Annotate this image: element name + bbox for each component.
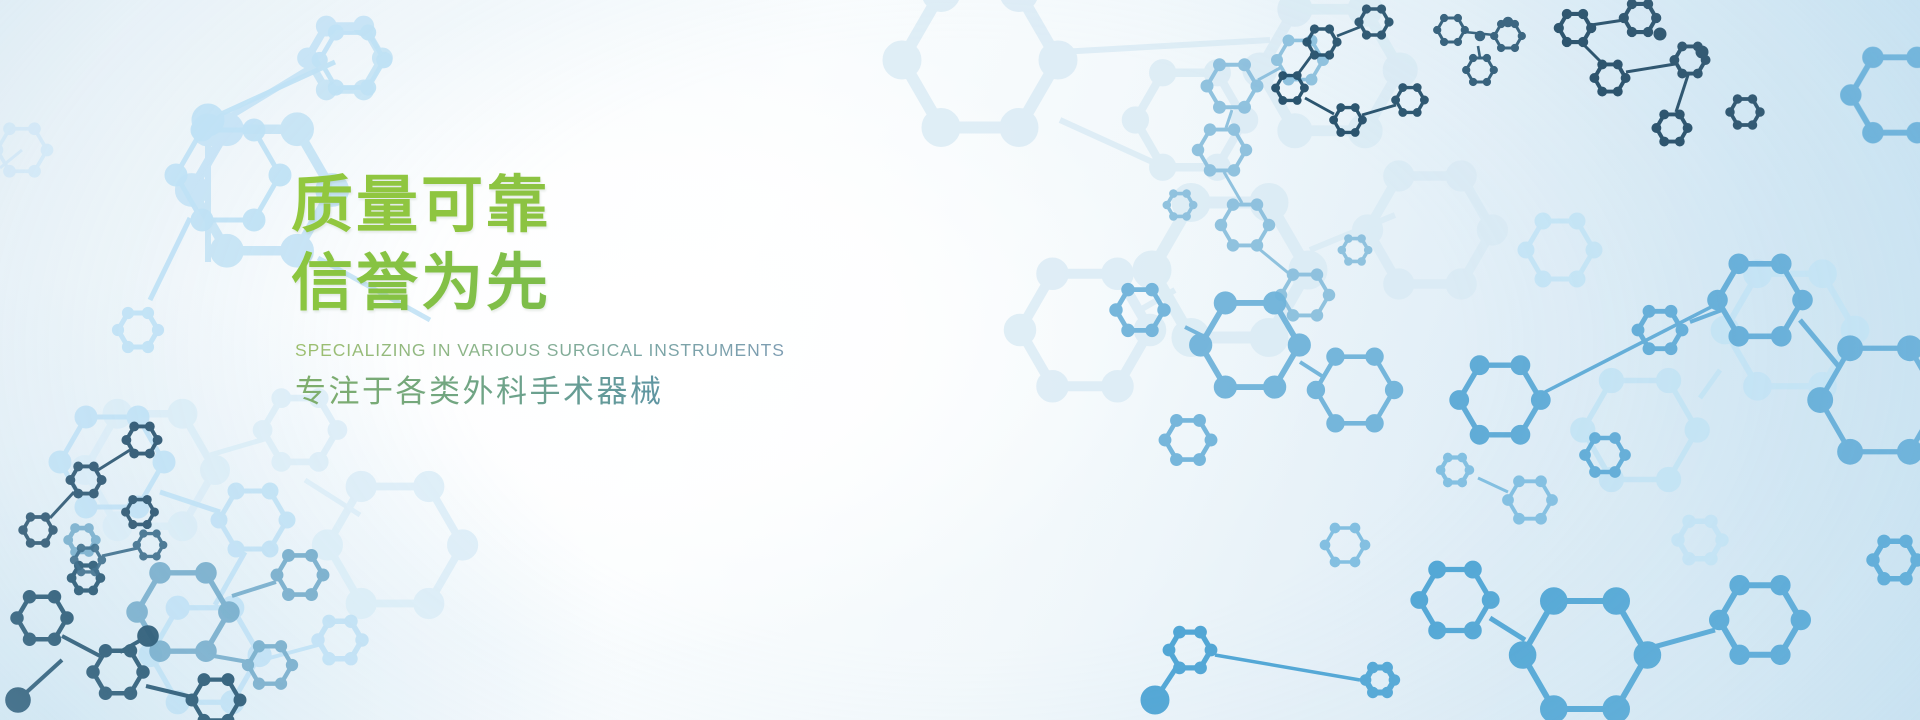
subtitle-english: SPECIALIZING IN VARIOUS SURGICAL INSTRUM…	[295, 340, 1111, 361]
hero-banner: 质量可靠 信誉为先 SPECIALIZING IN VARIOUS SURGIC…	[0, 0, 1920, 720]
hero-copy: 质量可靠 信誉为先 SPECIALIZING IN VARIOUS SURGIC…	[291, 172, 1111, 412]
headline-line-1: 质量可靠	[291, 172, 1111, 240]
headline-line-2: 信誉为先	[291, 250, 1111, 318]
subtitle-chinese: 专注于各类外科手术器械	[295, 372, 1111, 412]
